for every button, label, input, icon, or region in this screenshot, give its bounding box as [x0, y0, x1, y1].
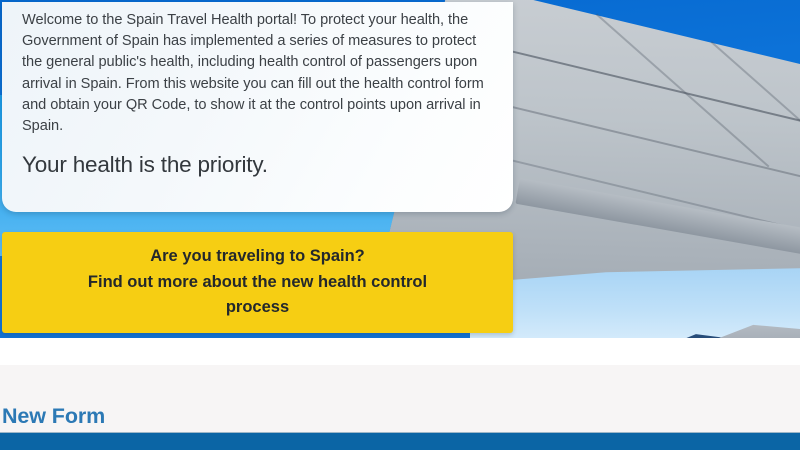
page-root: Welcome to the Spain Travel Health porta… — [0, 0, 800, 450]
welcome-card: Welcome to the Spain Travel Health porta… — [2, 2, 513, 212]
new-form-title: New Form — [2, 403, 105, 429]
new-form-header-bar — [0, 432, 800, 450]
content-spacer — [0, 338, 800, 365]
cta-line-3: process — [88, 295, 427, 321]
welcome-paragraph: Welcome to the Spain Travel Health porta… — [22, 10, 491, 137]
travel-info-cta-banner[interactable]: Are you traveling to Spain? Find out mor… — [2, 232, 513, 333]
welcome-headline: Your health is the priority. — [22, 151, 491, 179]
cta-banner-text: Are you traveling to Spain? Find out mor… — [64, 244, 451, 321]
cta-line-1: Are you traveling to Spain? — [88, 244, 427, 270]
cta-line-2: Find out more about the new health contr… — [88, 270, 427, 296]
new-form-section: New Form — [0, 365, 800, 450]
